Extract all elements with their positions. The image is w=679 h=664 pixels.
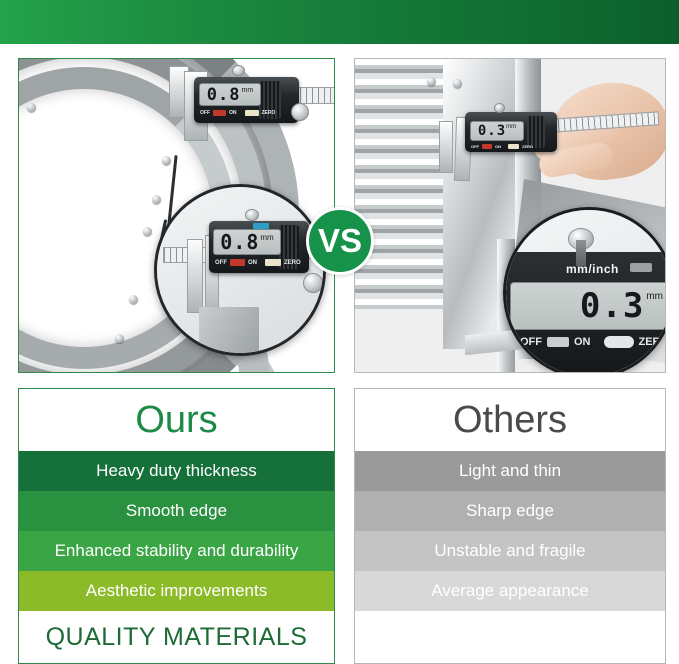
ours-product-photo: 0.8 mm OFF ON ZERO bbox=[18, 58, 335, 373]
others-footer-empty bbox=[355, 611, 665, 663]
inset-power-switch[interactable] bbox=[230, 259, 245, 266]
inset-off-label[interactable]: OFF bbox=[215, 260, 227, 266]
others-magnified-inset: mm/inch 0.3 mm OFF ON ZERO bbox=[503, 207, 666, 373]
ours-feature-row-4: Aesthetic improvements bbox=[19, 571, 334, 611]
panel-bolt bbox=[427, 77, 436, 86]
others-feature-row-3: Unstable and fragile bbox=[355, 531, 665, 571]
others-feature-row-2: Sharp edge bbox=[355, 491, 665, 531]
inset-caliper-jaw bbox=[187, 239, 203, 313]
inset-reading-value: 0.8 bbox=[220, 230, 259, 254]
inset-caliper-lock-screw bbox=[245, 209, 259, 221]
inset-zero-label[interactable]: ZERO bbox=[284, 260, 301, 266]
comparison-column-ours: 0.8 mm OFF ON ZERO bbox=[18, 58, 335, 373]
ours-heading: Ours bbox=[19, 389, 334, 451]
comparison-column-others: 0.3 mm OFF ON ZERO bbox=[354, 58, 666, 373]
caliper-zero-switch[interactable] bbox=[508, 144, 519, 149]
caliper-zero-label[interactable]: ZERO bbox=[522, 144, 533, 149]
inset-power-switch[interactable] bbox=[547, 337, 569, 347]
caliper-off-label[interactable]: OFF bbox=[471, 144, 479, 149]
inset-depth-wheel bbox=[303, 273, 323, 293]
ours-feature-row-3: Enhanced stability and durability bbox=[19, 531, 334, 571]
inset-caliper-display: 0.3 mm bbox=[510, 282, 666, 330]
bed-bolt bbox=[115, 334, 124, 343]
comparison-container: 0.8 mm OFF ON ZERO bbox=[0, 44, 679, 659]
caliper-lock-screw bbox=[232, 65, 245, 76]
caliper-reading-value: 0.3 bbox=[478, 123, 506, 139]
caliper-zero-switch[interactable] bbox=[245, 110, 259, 116]
galvanized-garden-bed-image: 0.8 mm OFF ON ZERO bbox=[19, 59, 334, 372]
caliper-power-switch[interactable] bbox=[213, 110, 226, 116]
inset-zero-switch[interactable] bbox=[265, 259, 281, 266]
caliper-reading-value: 0.8 bbox=[207, 85, 241, 105]
top-green-banner bbox=[0, 0, 679, 44]
caliper-power-switch[interactable] bbox=[482, 144, 492, 149]
inset-off-label[interactable]: OFF bbox=[520, 336, 542, 348]
caliper-button-row: OFF ON ZERO bbox=[471, 144, 533, 149]
thin-panel-image: 0.3 mm OFF ON ZERO bbox=[355, 59, 665, 372]
vs-badge: VS bbox=[306, 207, 374, 275]
caliper-display: 0.3 mm bbox=[470, 121, 524, 141]
inset-workpiece bbox=[199, 307, 259, 356]
inset-caliper-button-row: OFF ON ZERO bbox=[520, 336, 666, 348]
inset-zero-switch[interactable] bbox=[604, 336, 634, 348]
caliper-on-label[interactable]: ON bbox=[229, 110, 237, 116]
caliper-lock-screw bbox=[494, 103, 505, 113]
ours-feature-row-1: Heavy duty thickness bbox=[19, 451, 334, 491]
bed-bolt bbox=[162, 156, 171, 165]
others-feature-table: Others Light and thin Sharp edge Unstabl… bbox=[354, 388, 666, 664]
others-heading: Others bbox=[355, 389, 665, 451]
others-feature-row-1: Light and thin bbox=[355, 451, 665, 491]
inset-mode-label: mm/inch bbox=[566, 262, 619, 276]
inset-reading-unit: mm bbox=[646, 291, 663, 302]
caliper-display: 0.8 mm bbox=[199, 83, 261, 106]
caliper-zero-label[interactable]: ZERO bbox=[262, 110, 276, 116]
others-product-photo: 0.3 mm OFF ON ZERO bbox=[354, 58, 666, 373]
bed-bolt bbox=[129, 295, 138, 304]
inset-caliper-display: 0.8 mm bbox=[213, 229, 281, 255]
caliper-fixed-jaw bbox=[439, 121, 453, 173]
inset-reading-unit: mm bbox=[260, 233, 273, 242]
bed-bolt bbox=[143, 227, 152, 236]
inset-reading-value: 0.3 bbox=[580, 286, 644, 326]
ours-feature-row-2: Smooth edge bbox=[19, 491, 334, 531]
inset-zero-label[interactable]: ZERO bbox=[639, 336, 667, 348]
caliper-off-label[interactable]: OFF bbox=[200, 110, 210, 116]
others-feature-row-4: Average appearance bbox=[355, 571, 665, 611]
caliper-on-label[interactable]: ON bbox=[495, 144, 501, 149]
caliper-reading-unit: mm bbox=[242, 87, 254, 94]
inset-on-label[interactable]: ON bbox=[248, 260, 257, 266]
ours-magnified-inset: 0.8 mm OFF ON ZERO bbox=[154, 184, 326, 356]
ours-footer-quality-materials: QUALITY MATERIALS bbox=[19, 611, 334, 663]
vs-badge-label: VS bbox=[318, 222, 362, 260]
inset-on-label[interactable]: ON bbox=[574, 336, 591, 348]
caliper-button-row: OFF ON ZERO bbox=[200, 110, 275, 116]
bed-bolt bbox=[27, 103, 36, 112]
inset-caliper-button-row: OFF ON ZERO bbox=[215, 259, 301, 266]
panel-bolt bbox=[453, 79, 462, 88]
caliper-reading-unit: mm bbox=[506, 124, 516, 130]
inset-mode-button[interactable] bbox=[630, 263, 652, 272]
ours-feature-table: Ours Heavy duty thickness Smooth edge En… bbox=[18, 388, 335, 664]
thin-panel-corrugation bbox=[355, 59, 447, 309]
caliper-depth-wheel bbox=[291, 103, 309, 121]
